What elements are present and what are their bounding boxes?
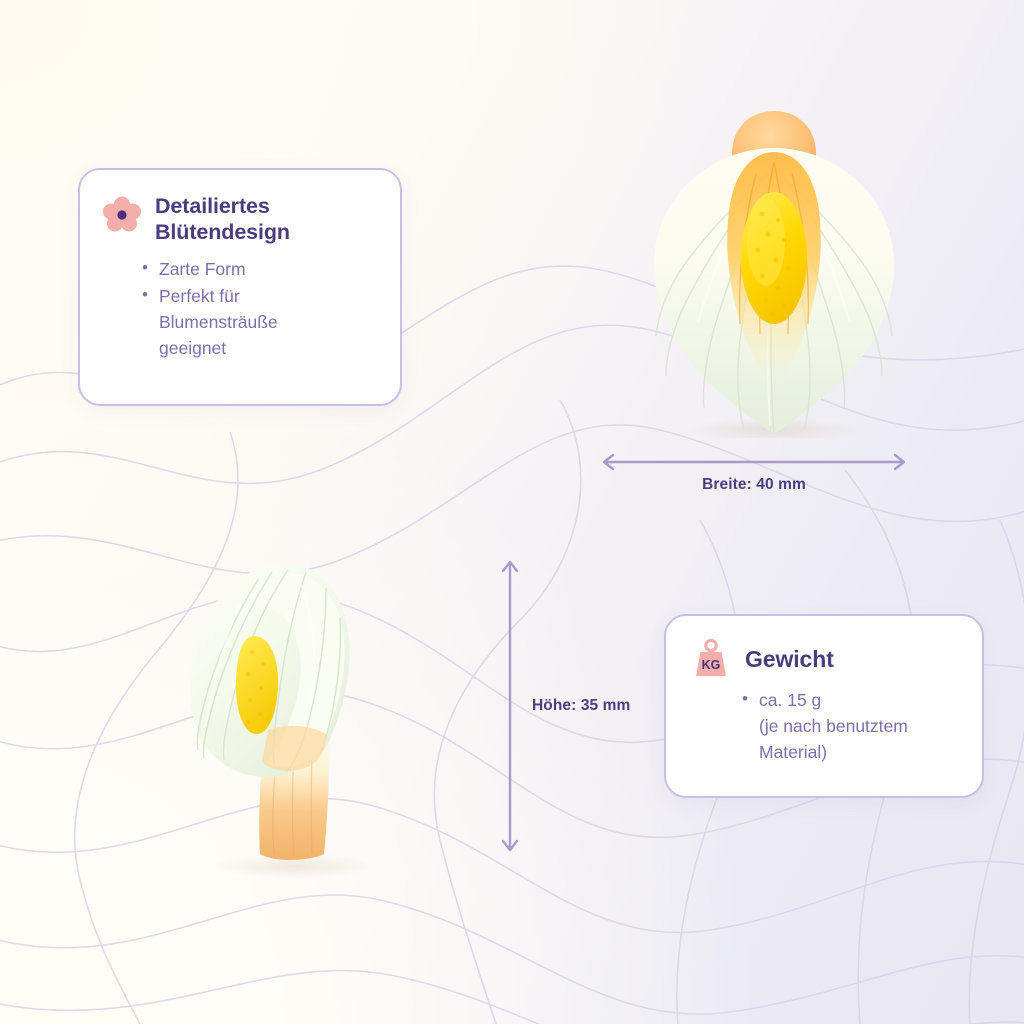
flower-icon [102,194,142,234]
list-item: Zarte Form [142,257,378,281]
product-photo-flower-front [628,108,918,438]
dimension-height-label: Höhe: 35 mm [532,697,630,715]
card-title: Gewicht [745,638,834,673]
dimension-height: Höhe: 35 mm [498,556,650,856]
card-feature-list: ca. 15 g (je nach benutztem Material) [690,688,960,764]
list-item: Blumensträuße [142,310,378,334]
product-photo-flower-side [168,548,438,878]
dimension-width: Breite: 40 mm [598,450,910,508]
card-title-line-2: Blütendesign [155,220,290,244]
dimension-width-label: Breite: 40 mm [702,476,806,494]
list-item: ca. 15 g [742,688,960,712]
list-item: geeignet [142,336,378,360]
weight-icon-label: KG [702,658,721,672]
card-header: KG Gewicht [690,638,960,680]
list-item: Perfekt für [142,284,378,308]
list-item: (je nach benutztem [742,714,960,738]
card-title-line-1: Detailiertes [155,194,270,218]
info-card-design: Detailiertes Blütendesign Zarte Form Per… [78,168,402,406]
info-card-weight: KG Gewicht ca. 15 g (je nach benutztem M… [664,614,984,798]
card-header: Detailiertes Blütendesign [102,192,378,245]
weight-kg-icon: KG [690,638,732,680]
card-feature-list: Zarte Form Perfekt für Blumensträuße gee… [102,257,378,360]
double-arrow-vertical-icon [498,556,522,856]
card-title: Detailiertes Blütendesign [155,192,290,245]
double-arrow-horizontal-icon [598,450,910,474]
list-item: Material) [742,740,960,764]
